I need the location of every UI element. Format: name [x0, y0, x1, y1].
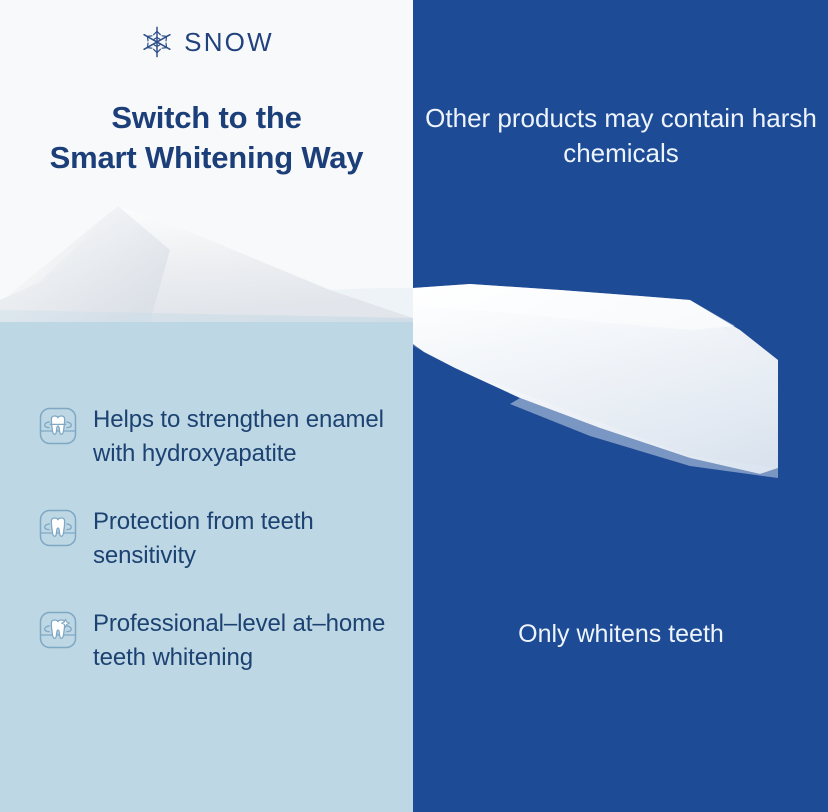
- tooth-sparkle-icon: [38, 610, 78, 650]
- page-title: Switch to the Smart Whitening Way: [8, 98, 405, 179]
- list-item: Professional–level at–home teeth whiteni…: [38, 607, 398, 675]
- benefit-label: Professional–level at–home teeth whiteni…: [93, 607, 398, 675]
- snowflake-icon: [139, 24, 175, 60]
- benefit-label: Protection from teeth sensitivity: [93, 505, 398, 573]
- competitor-drawback-top: Other products may contain harsh chemica…: [421, 101, 821, 172]
- competitor-drawback-bottom: Only whitens teeth: [421, 618, 821, 651]
- tooth-icon: [38, 508, 78, 548]
- benefit-label: Helps to strengthen enamel with hydroxya…: [93, 403, 398, 471]
- brand-name: SNOW: [184, 29, 274, 55]
- comparison-graphic: SNOW Switch to the Smart Whitening Way O…: [0, 0, 828, 812]
- headline-line-1: Switch to the: [8, 98, 405, 138]
- benefits-list: Helps to strengthen enamel with hydroxya…: [38, 403, 398, 675]
- brand-logo: SNOW: [0, 24, 413, 60]
- headline-line-2: Smart Whitening Way: [8, 138, 405, 178]
- list-item: Protection from teeth sensitivity: [38, 505, 398, 573]
- list-item: Helps to strengthen enamel with hydroxya…: [38, 403, 398, 471]
- tooth-shield-icon: [38, 406, 78, 446]
